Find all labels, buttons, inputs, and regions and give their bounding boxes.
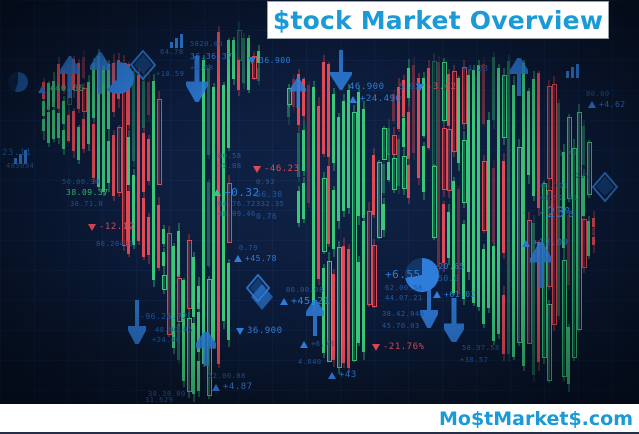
candlestick (547, 86, 550, 177)
candlestick (207, 68, 210, 156)
candle-body (127, 191, 130, 254)
candlestick (522, 63, 525, 214)
candlestick (457, 78, 460, 163)
candlestick (392, 94, 395, 121)
candlestick (402, 118, 405, 146)
candle-body (182, 280, 185, 381)
candlestick (397, 139, 400, 185)
candlestick (72, 59, 75, 90)
candle-body (482, 249, 485, 325)
candle-body (202, 60, 205, 364)
candle-body (507, 61, 510, 354)
candlestick (147, 82, 150, 116)
candle-body (207, 182, 210, 266)
candlestick (287, 105, 290, 117)
candlestick (417, 78, 420, 178)
candlestick (292, 79, 295, 107)
candle-body (157, 99, 162, 185)
candlestick (537, 242, 540, 362)
candlestick (307, 85, 310, 204)
candle-body (457, 78, 460, 163)
candle-body (147, 217, 150, 255)
candlestick (297, 74, 300, 125)
candle-body (422, 146, 425, 192)
candlestick (432, 166, 435, 236)
candle-body (192, 257, 195, 317)
candle-body (402, 118, 405, 146)
candlestick (472, 70, 475, 303)
candlestick (112, 63, 115, 112)
candlestick (162, 229, 165, 244)
candlestick (322, 178, 325, 250)
candlestick (552, 84, 555, 323)
candle-body (357, 262, 360, 343)
candlestick (187, 318, 190, 390)
candlestick (82, 88, 85, 111)
candle-body (157, 205, 160, 268)
candle-body (422, 78, 425, 136)
candlestick (382, 204, 385, 230)
candle-body (537, 73, 540, 208)
candlestick-field (0, 0, 639, 404)
candlestick (412, 65, 415, 153)
candlestick (482, 161, 485, 229)
candlestick (372, 245, 375, 304)
candlestick (567, 327, 570, 384)
candle-body (397, 139, 400, 185)
candlestick (332, 274, 335, 360)
candle-body (82, 119, 85, 149)
candle-body (557, 103, 560, 316)
candlestick (172, 246, 175, 348)
candlestick (122, 63, 125, 244)
candle-body (177, 324, 180, 360)
candlestick (337, 117, 340, 221)
candle-body (152, 81, 155, 280)
candle-body (522, 63, 525, 214)
candle-body (117, 60, 120, 99)
candlestick (72, 111, 75, 151)
candlestick (42, 101, 45, 115)
candle-body (217, 32, 220, 364)
candlestick (462, 140, 465, 201)
candle-body (392, 94, 395, 121)
candlestick (42, 119, 45, 131)
candlestick (227, 40, 230, 148)
candlestick (517, 147, 520, 341)
candle-body (242, 38, 245, 83)
candlestick (582, 126, 585, 165)
candle-body (567, 327, 570, 384)
candlestick (62, 130, 65, 148)
candle-body (462, 224, 465, 299)
candle-body (327, 64, 330, 157)
candle-body (297, 191, 300, 224)
candle-body (442, 204, 445, 263)
candlestick (582, 176, 585, 216)
candlestick (572, 148, 575, 356)
candle-body (42, 101, 45, 115)
candle-body (382, 164, 385, 192)
candlestick (357, 92, 360, 217)
candle-body (82, 57, 85, 78)
candle-body (77, 127, 80, 160)
candle-body (62, 101, 65, 123)
candlestick (47, 112, 50, 143)
candlestick (82, 57, 85, 78)
candle-body (562, 152, 565, 248)
candlestick (447, 74, 450, 126)
candlestick (387, 128, 390, 156)
candlestick (477, 65, 480, 307)
candlestick (377, 162, 380, 236)
candlestick (542, 183, 545, 356)
candlestick (102, 65, 105, 191)
candlestick (152, 81, 155, 280)
candlestick (437, 62, 440, 266)
candle-body (67, 115, 70, 140)
candlestick (372, 155, 375, 215)
candlestick (502, 295, 505, 354)
candle-body (407, 68, 410, 98)
candlestick (587, 221, 590, 256)
candle-body (567, 215, 570, 285)
candle-body (132, 175, 135, 245)
candlestick (82, 119, 85, 149)
candle-body (332, 274, 335, 360)
candle-body (302, 79, 305, 115)
candlestick (452, 181, 455, 293)
candle-body (227, 263, 230, 339)
candle-body (47, 112, 50, 143)
candlestick (207, 182, 210, 266)
footer-bar: Mo$tMarket$.com (0, 404, 639, 434)
candle-body (362, 109, 365, 217)
candlestick (462, 67, 465, 123)
candlestick (382, 128, 385, 158)
candle-body (72, 59, 75, 90)
candle-body (412, 65, 415, 153)
candlestick (577, 112, 580, 328)
candle-body (162, 229, 165, 244)
candlestick (592, 237, 595, 245)
candle-body (472, 70, 475, 303)
candlestick (257, 68, 260, 81)
candlestick (242, 38, 245, 83)
candlestick (532, 223, 535, 375)
candlestick (87, 82, 90, 144)
candle-body (342, 246, 345, 362)
candle-body (227, 40, 230, 148)
candle-body (387, 128, 390, 156)
candlestick (217, 32, 220, 364)
candlestick (192, 323, 195, 393)
candlestick (57, 64, 60, 109)
candle-body (447, 212, 450, 258)
candlestick (162, 252, 165, 266)
candle-body (512, 85, 515, 357)
candlestick (567, 117, 570, 197)
candlestick (132, 71, 135, 161)
stock-market-overview-image: +40.6623.11485094-12.1286.2043050.00.303… (0, 0, 639, 434)
candle-body (502, 295, 505, 354)
candlestick (422, 78, 425, 136)
candlestick (177, 231, 180, 277)
candlestick (327, 261, 330, 360)
candle-body (307, 85, 310, 204)
candle-body (347, 90, 350, 208)
candle-body (417, 78, 420, 178)
candlestick (227, 183, 230, 241)
candlestick (62, 70, 65, 91)
candlestick (162, 275, 165, 288)
title-plate: $tock Market Overview (268, 2, 608, 38)
candlestick (522, 214, 525, 365)
candle-body (137, 75, 140, 241)
candle-body (447, 74, 450, 126)
candle-body (322, 268, 325, 353)
candle-body (587, 221, 590, 256)
candlestick (92, 63, 95, 118)
candle-body (467, 75, 470, 271)
candlestick (117, 60, 120, 99)
candle-body (292, 79, 295, 107)
candlestick (67, 115, 70, 140)
candlestick (147, 139, 150, 181)
candlestick (177, 324, 180, 360)
candlestick (182, 280, 185, 381)
candlestick (332, 190, 335, 249)
candlestick (297, 133, 300, 177)
candle-body (107, 141, 110, 183)
candlestick (202, 60, 205, 364)
candlestick (442, 128, 445, 188)
candle-body (212, 87, 215, 341)
candlestick (447, 212, 450, 258)
candlestick (492, 57, 495, 121)
candle-body (342, 101, 345, 210)
candlestick (197, 361, 200, 391)
candlestick (142, 81, 145, 129)
candlestick (177, 278, 180, 320)
candle-body (357, 92, 360, 217)
candlestick (302, 183, 305, 219)
candlestick (312, 87, 315, 305)
candlestick (142, 133, 145, 192)
candle-body (587, 142, 592, 195)
candlestick (502, 75, 505, 136)
candlestick (427, 68, 430, 148)
candlestick (342, 101, 345, 210)
candlestick (482, 249, 485, 325)
candle-body (487, 120, 490, 308)
candlestick (462, 224, 465, 299)
candle-body (172, 246, 175, 348)
candlestick (67, 65, 70, 102)
candlestick (447, 129, 450, 189)
candlestick (42, 82, 45, 99)
candlestick (497, 68, 500, 334)
candlestick (302, 79, 305, 115)
candle-body (207, 68, 210, 156)
candlestick (327, 166, 330, 244)
candle-body (112, 63, 115, 112)
candle-body (382, 204, 385, 230)
candle-body (297, 74, 300, 125)
candle-body (522, 214, 525, 365)
candle-body (142, 81, 145, 129)
candlestick (562, 152, 565, 248)
candle-body (407, 165, 410, 199)
candlestick (407, 112, 410, 159)
candlestick (127, 191, 130, 254)
candle-body (197, 312, 200, 352)
candle-body (62, 70, 65, 91)
candle-body (592, 237, 595, 245)
candlestick (142, 198, 145, 258)
candle-body (582, 126, 585, 165)
candlestick (57, 113, 60, 138)
candlestick (237, 60, 240, 91)
candle-body (112, 135, 115, 197)
candlestick (222, 85, 225, 321)
candlestick (167, 233, 170, 334)
candle-body (492, 246, 495, 342)
candle-body (147, 139, 150, 181)
candlestick (192, 257, 195, 317)
candlestick (502, 161, 505, 252)
candlestick (77, 127, 80, 160)
candlestick (492, 246, 495, 342)
candle-body (87, 82, 90, 144)
candlestick (407, 165, 410, 199)
candlestick (107, 64, 110, 129)
candle-body (532, 223, 535, 375)
candle-body (397, 87, 400, 129)
candlestick (97, 56, 100, 188)
candle-body (222, 85, 225, 321)
candlestick (392, 135, 395, 152)
candlestick (367, 211, 370, 303)
candlestick (322, 62, 325, 154)
candle-body (107, 64, 110, 129)
candle-body (57, 113, 60, 138)
candle-body (97, 56, 100, 188)
candlestick (482, 64, 485, 125)
candlestick (252, 56, 255, 77)
candlestick (532, 79, 535, 196)
candle-body (132, 71, 135, 161)
candlestick (527, 220, 530, 342)
candlestick (232, 40, 235, 79)
candlestick (62, 101, 65, 123)
candle-body (337, 117, 340, 221)
candle-body (457, 189, 460, 294)
candle-body (497, 68, 500, 334)
candlestick (507, 61, 510, 354)
candlestick (582, 219, 585, 266)
candle-body (532, 79, 535, 196)
candlestick (157, 205, 160, 268)
candle-body (142, 198, 145, 258)
candlestick (147, 217, 150, 255)
candle-body (197, 361, 200, 391)
candle-body (452, 181, 455, 293)
candle-body (332, 190, 335, 249)
candlestick (452, 71, 455, 150)
candlestick (387, 162, 390, 180)
candlestick (137, 75, 140, 241)
candlestick (237, 30, 240, 60)
candle-body (387, 162, 390, 180)
candlestick (112, 135, 115, 197)
candlestick (207, 279, 210, 393)
candle-body (192, 323, 195, 393)
candle-body (92, 124, 95, 178)
candlestick (127, 137, 130, 186)
candle-body (332, 94, 335, 163)
candlestick (537, 73, 540, 208)
candlestick (407, 68, 410, 98)
candle-body (232, 40, 235, 79)
candle-body (537, 242, 540, 362)
candlestick (352, 112, 355, 359)
candle-body (492, 57, 495, 121)
candlestick (382, 164, 385, 192)
candle-body (257, 68, 260, 81)
candlestick (327, 64, 330, 157)
candlestick (117, 127, 120, 191)
world-map-candlestick-artwork: +40.6623.11485094-12.1286.2043050.00.303… (0, 0, 639, 404)
candlestick (547, 304, 550, 378)
candle-body (57, 64, 60, 109)
candlestick (92, 124, 95, 178)
candle-body (177, 231, 180, 277)
candlestick (247, 38, 250, 90)
candle-body (42, 119, 45, 131)
candlestick (227, 263, 230, 339)
candle-body (52, 110, 55, 139)
candlestick (457, 189, 460, 294)
candle-body (322, 62, 325, 154)
page-title: $tock Market Overview (273, 8, 603, 33)
candle-body (502, 161, 505, 252)
candlestick (347, 249, 350, 368)
candlestick (157, 99, 160, 183)
candle-body (527, 91, 530, 175)
candle-body (142, 133, 145, 192)
candlestick (347, 90, 350, 208)
candle-body (102, 65, 105, 191)
site-watermark: Mo$tMarket$.com (439, 408, 633, 430)
candlestick (332, 94, 335, 163)
candle-body (317, 106, 320, 280)
candle-body (427, 68, 430, 148)
candlestick (52, 110, 55, 139)
candlestick (362, 109, 365, 217)
candlestick (127, 64, 130, 125)
candle-body (127, 64, 130, 125)
candlestick (512, 85, 515, 357)
candlestick (402, 156, 405, 187)
candlestick (302, 130, 305, 171)
candle-body (62, 130, 65, 148)
candlestick (342, 246, 345, 362)
candlestick (487, 120, 490, 308)
candlestick (362, 221, 365, 351)
candlestick (187, 240, 190, 307)
candlestick (492, 168, 495, 243)
